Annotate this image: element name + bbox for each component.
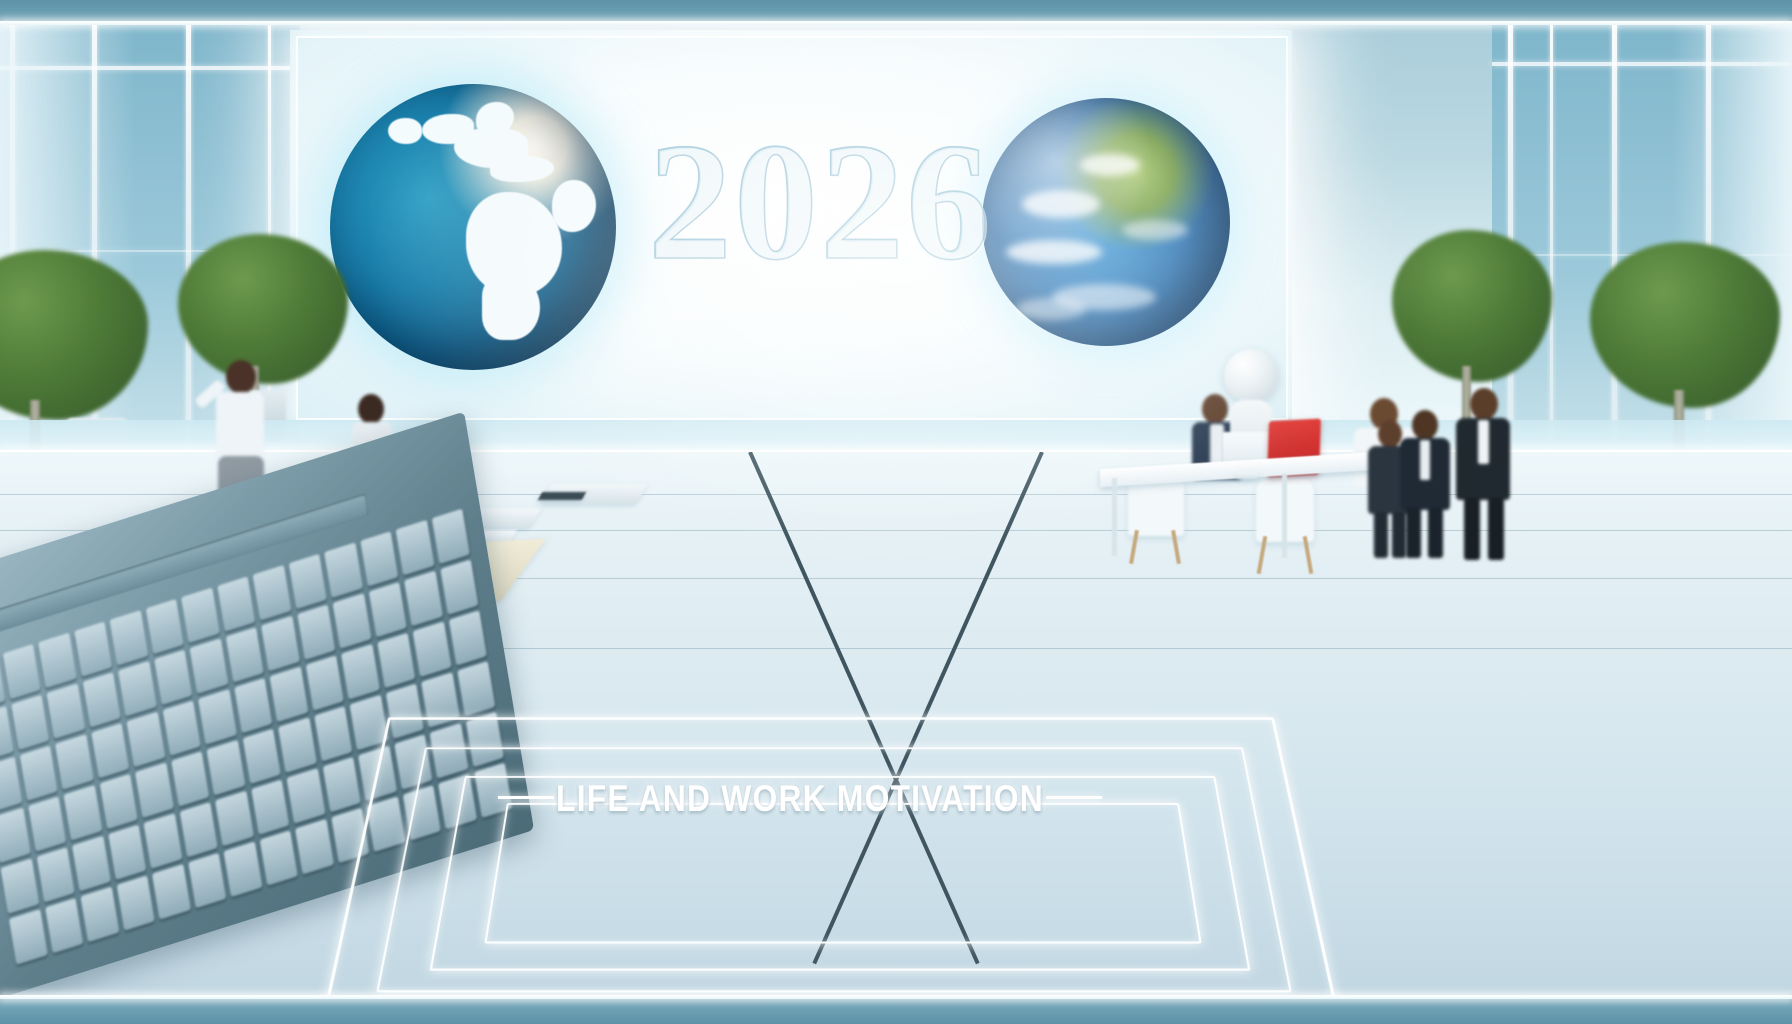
frame-band-top — [0, 0, 1792, 22]
banner-title-text: LIFE AND WORK MOTIVATION — [370, 778, 1230, 820]
scene-canvas: 2026 — [0, 0, 1792, 1024]
frame-band-bottom — [0, 998, 1792, 1024]
banner-frame-inner — [484, 803, 1201, 943]
year-display: 2026 — [648, 118, 978, 286]
person-man-suit-c — [1452, 388, 1514, 560]
person-man-suit-b — [1396, 410, 1454, 558]
globe-americas-icon — [982, 98, 1230, 346]
floor-bar-dark — [538, 492, 586, 500]
mannequin-head — [1224, 349, 1278, 403]
office-room: 2026 — [0, 22, 1792, 1000]
table-item-small — [1236, 472, 1258, 479]
globe-europe-africa-icon — [330, 84, 616, 370]
title-banner: LIFE AND WORK MOTIVATION — [300, 672, 1300, 1000]
